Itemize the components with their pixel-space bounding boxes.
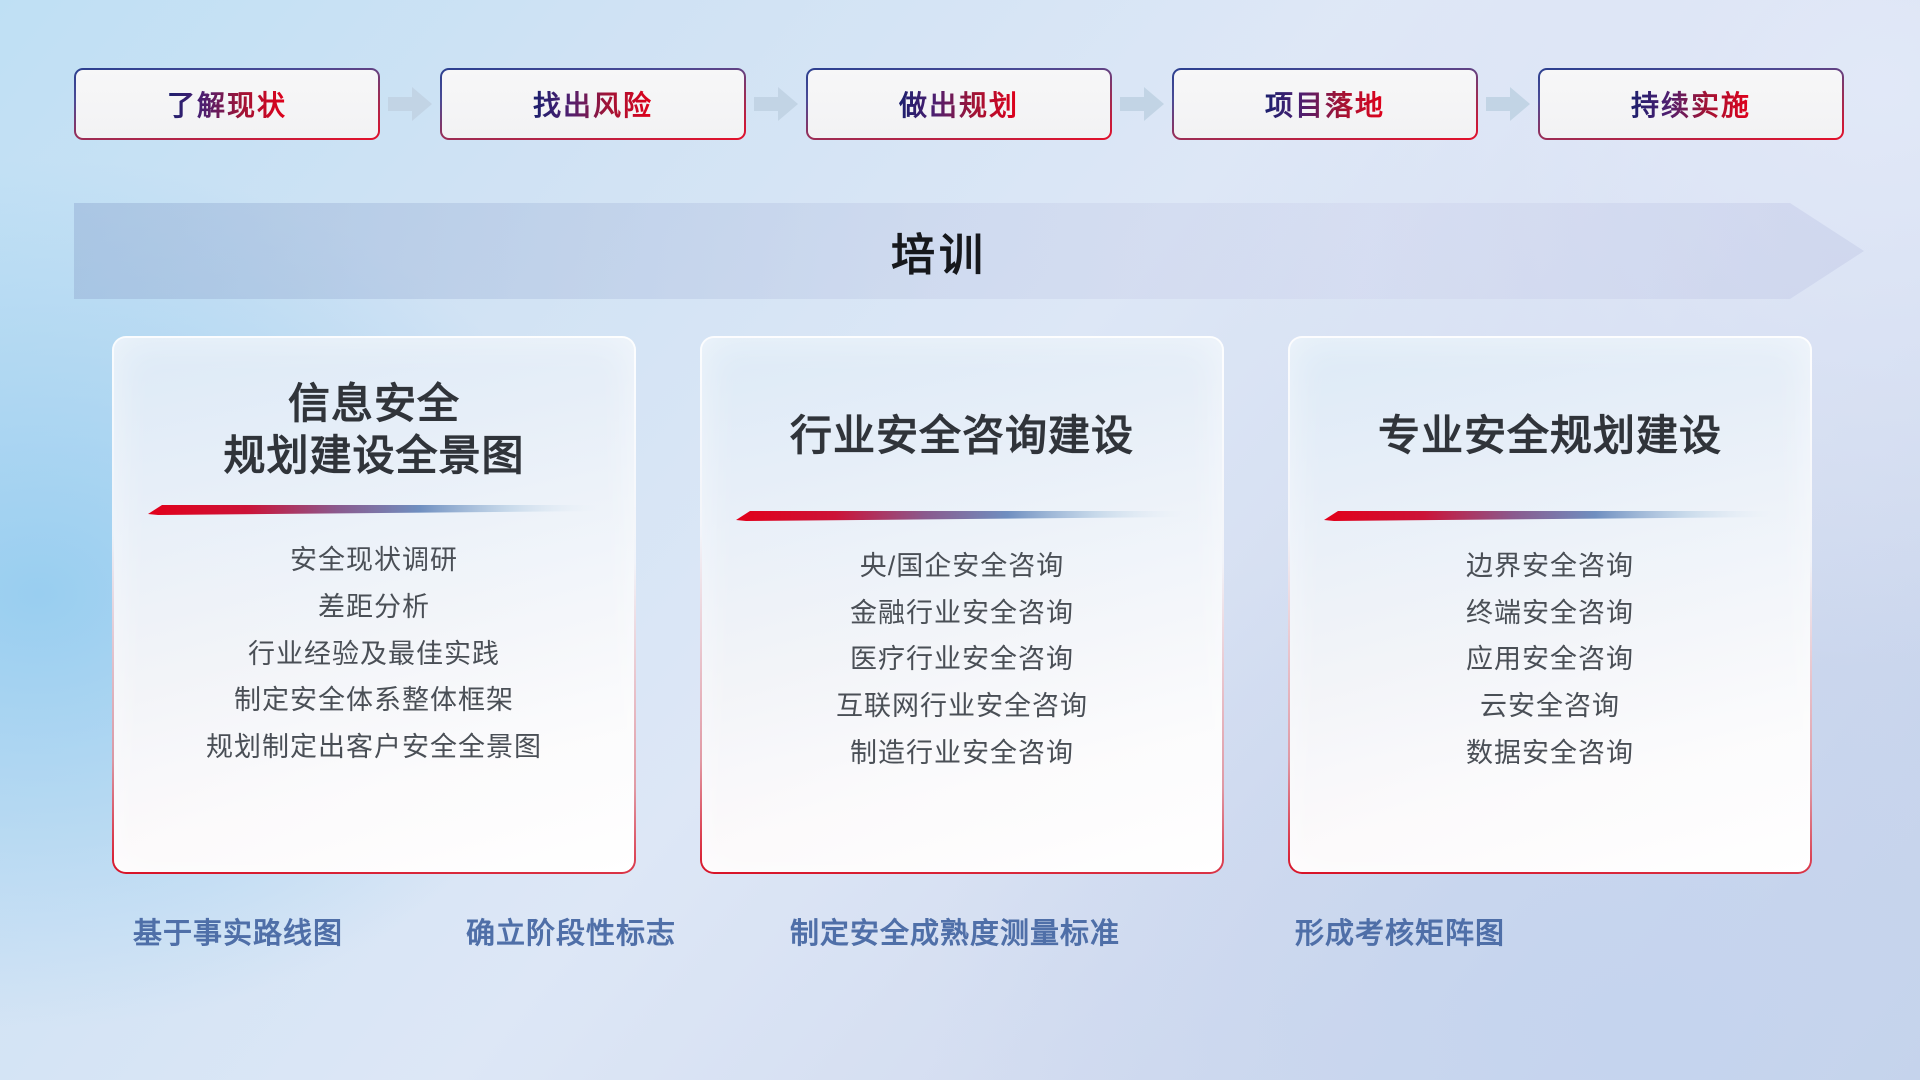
arrow-right-icon — [380, 68, 440, 140]
card-item-list: 安全现状调研 差距分析 行业经验及最佳实践 制定安全体系整体框架 规划制定出客户… — [206, 546, 542, 762]
card-title: 专业安全规划建设 — [1378, 410, 1722, 462]
list-item: 制定安全体系整体框架 — [234, 686, 514, 716]
gradient-divider-icon — [1324, 510, 1776, 522]
step-box-inner: 了解现状 — [76, 70, 378, 138]
step-label: 了解现状 — [167, 84, 287, 124]
card-2[interactable]: 行业安全咨询建设 央/国企安全咨询 金融行业安全咨询 医 — [700, 336, 1224, 874]
list-item: 规划制定出客户安全全景图 — [206, 733, 542, 763]
step-wrap-1: 找出风险 — [440, 68, 806, 140]
card-inner: 信息安全 规划建设全景图 安全现状调研 差距分析 行业经 — [114, 338, 634, 872]
banner-title: 培训 — [74, 203, 1864, 299]
list-item: 制造行业安全咨询 — [850, 739, 1074, 769]
step-wrap-4: 持续实施 — [1538, 68, 1844, 140]
step-box-4[interactable]: 项目落地 — [1172, 68, 1478, 140]
list-item: 央/国企安全咨询 — [860, 552, 1065, 582]
list-item: 数据安全咨询 — [1466, 739, 1634, 769]
card-inner: 行业安全咨询建设 央/国企安全咨询 金融行业安全咨询 医 — [702, 338, 1222, 872]
step-box-1[interactable]: 了解现状 — [74, 68, 380, 140]
list-item: 金融行业安全咨询 — [850, 599, 1074, 629]
card-item-list: 央/国企安全咨询 金融行业安全咨询 医疗行业安全咨询 互联网行业安全咨询 制造行… — [836, 552, 1088, 768]
step-box-2[interactable]: 找出风险 — [440, 68, 746, 140]
list-item: 应用安全咨询 — [1466, 645, 1634, 675]
arrow-right-icon — [1478, 68, 1538, 140]
training-banner: 培训 — [74, 203, 1864, 299]
step-box-inner: 找出风险 — [442, 70, 744, 138]
caption-4: 形成考核矩阵图 — [1295, 910, 1505, 952]
list-item: 行业经验及最佳实践 — [248, 640, 500, 670]
list-item: 差距分析 — [318, 593, 430, 623]
caption-3: 制定安全成熟度测量标准 — [790, 910, 1120, 952]
step-box-inner: 项目落地 — [1174, 70, 1476, 138]
card-title: 行业安全咨询建设 — [790, 410, 1134, 462]
step-label: 找出风险 — [533, 84, 653, 124]
list-item: 安全现状调研 — [290, 546, 458, 576]
step-box-5[interactable]: 持续实施 — [1538, 68, 1844, 140]
list-item: 终端安全咨询 — [1466, 599, 1634, 629]
gradient-divider-icon — [148, 504, 600, 516]
step-label: 持续实施 — [1631, 84, 1751, 124]
arrow-right-icon — [746, 68, 806, 140]
step-wrap-3: 项目落地 — [1172, 68, 1538, 140]
step-box-inner: 做出规划 — [808, 70, 1110, 138]
list-item: 医疗行业安全咨询 — [850, 645, 1074, 675]
step-wrap-2: 做出规划 — [806, 68, 1172, 140]
card-3[interactable]: 专业安全规划建设 边界安全咨询 终端安全咨询 应用安全咨 — [1288, 336, 1812, 874]
list-item: 云安全咨询 — [1480, 692, 1620, 722]
step-box-3[interactable]: 做出规划 — [806, 68, 1112, 140]
caption-row: 基于事实路线图 确立阶段性标志 制定安全成熟度测量标准 形成考核矩阵图 — [0, 910, 1920, 970]
step-label: 项目落地 — [1265, 84, 1385, 124]
caption-1: 基于事实路线图 — [133, 910, 343, 952]
gradient-divider-icon — [736, 510, 1188, 522]
step-wrap-0: 了解现状 — [74, 68, 440, 140]
caption-2: 确立阶段性标志 — [466, 910, 676, 952]
cards-row: 信息安全 规划建设全景图 安全现状调研 差距分析 行业经 — [112, 336, 1812, 874]
card-title: 信息安全 规划建设全景图 — [223, 378, 524, 482]
list-item: 互联网行业安全咨询 — [836, 692, 1088, 722]
step-label: 做出规划 — [899, 84, 1019, 124]
card-item-list: 边界安全咨询 终端安全咨询 应用安全咨询 云安全咨询 数据安全咨询 — [1466, 552, 1634, 768]
step-box-inner: 持续实施 — [1540, 70, 1842, 138]
card-1[interactable]: 信息安全 规划建设全景图 安全现状调研 差距分析 行业经 — [112, 336, 636, 874]
process-step-strip: 了解现状 找出风险 做出规划 项目落地 — [74, 68, 1846, 140]
arrow-right-icon — [1112, 68, 1172, 140]
card-inner: 专业安全规划建设 边界安全咨询 终端安全咨询 应用安全咨 — [1290, 338, 1810, 872]
list-item: 边界安全咨询 — [1466, 552, 1634, 582]
